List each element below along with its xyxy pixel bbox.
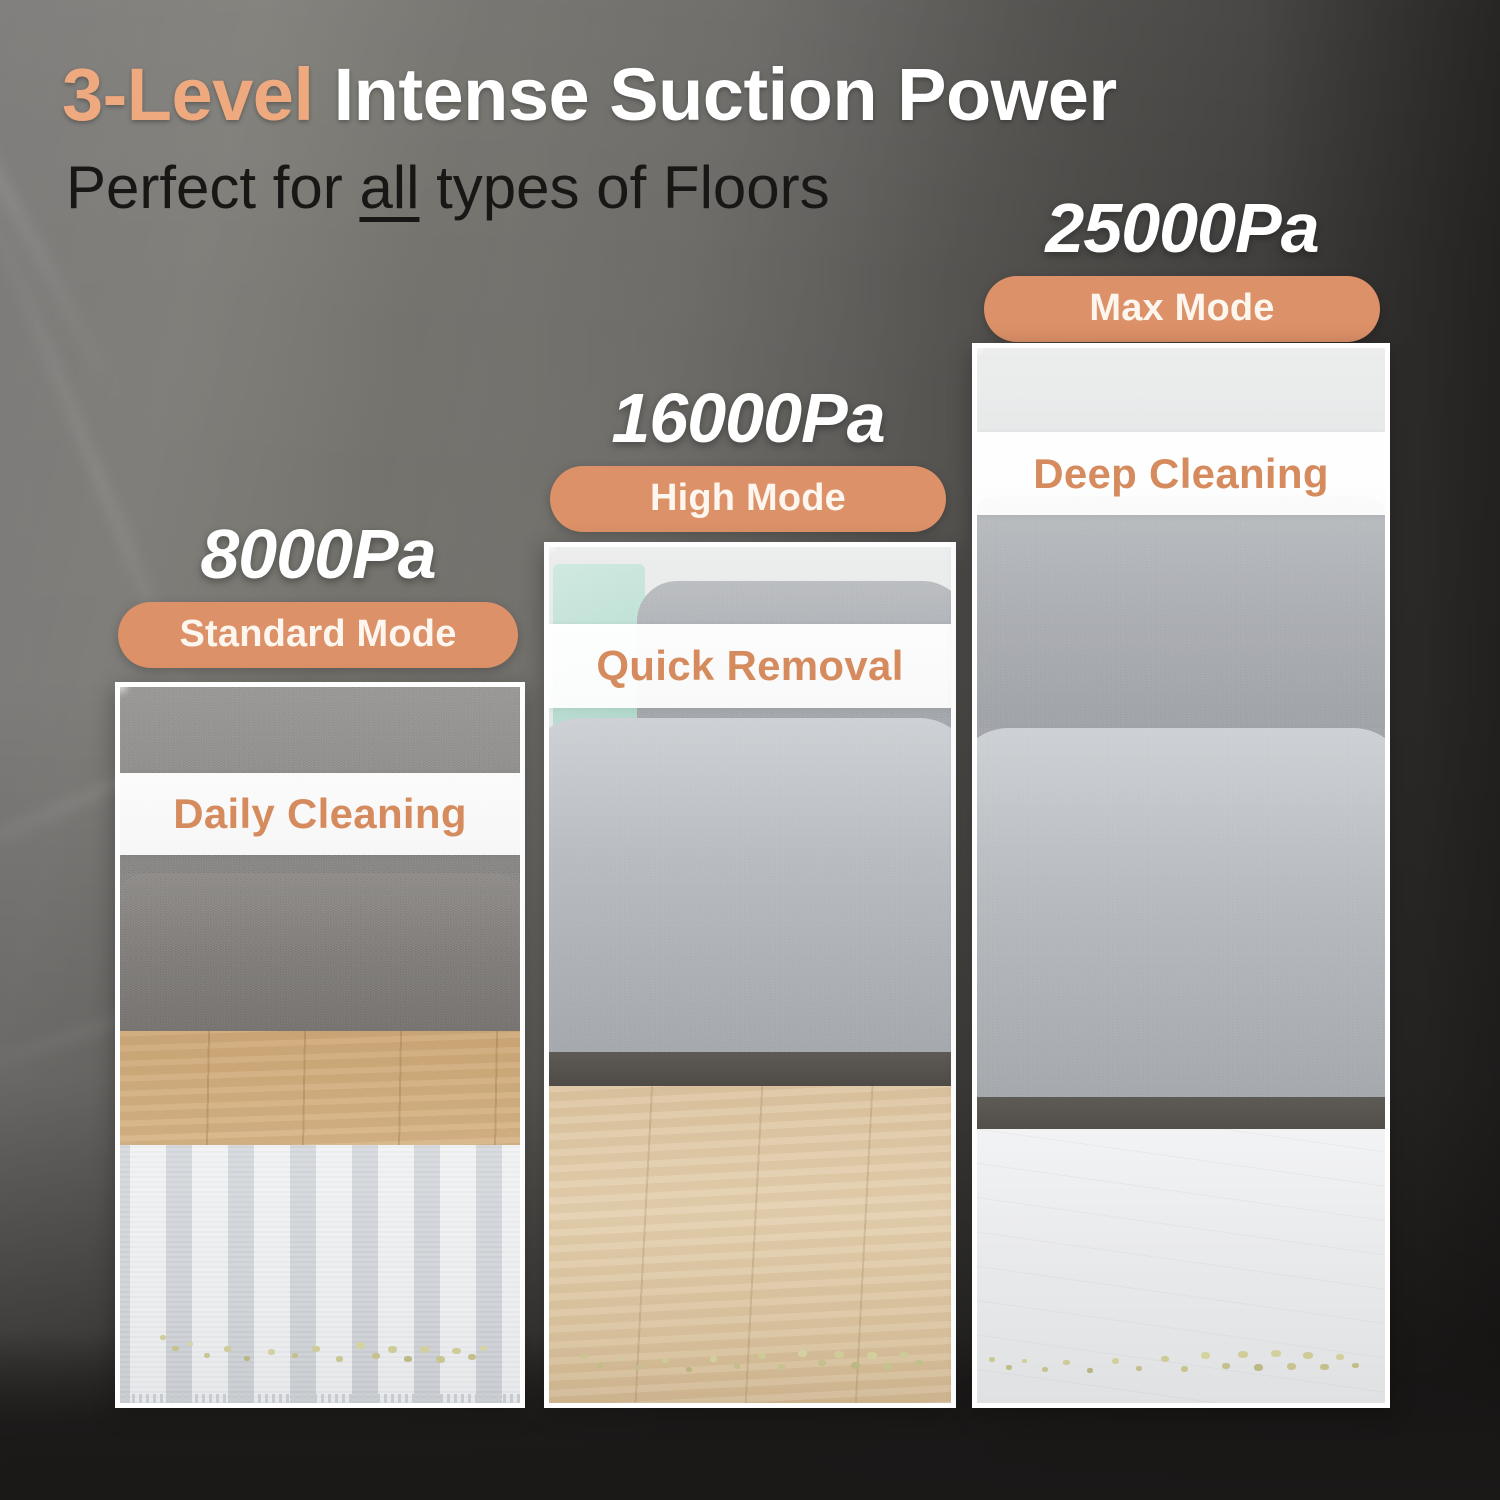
suction-value-max: 25000Pa [984,192,1380,266]
mode-label-group-standard: 8000Pa Standard Mode [118,518,518,668]
page-subtitle: Perfect for all types of Floors [66,158,830,218]
caption-band-high: Quick Removal [549,624,951,708]
mode-pill-max[interactable]: Max Mode [984,276,1380,342]
caption-band-standard: Daily Cleaning [120,773,520,855]
subtitle-underlined-word: all [359,154,419,221]
suction-value-standard: 8000Pa [118,518,518,592]
headline-rest-text: Intense Suction Power [334,53,1117,136]
headline-accent-text: 3-Level [62,53,314,136]
mode-pill-high[interactable]: High Mode [550,466,946,532]
mode-panel-high[interactable]: Quick Removal [544,542,956,1408]
subtitle-suffix: types of Floors [419,154,829,221]
suction-value-high: 16000Pa [550,382,946,456]
mode-panel-max[interactable]: Deep Cleaning [972,343,1390,1408]
mode-label-group-max: 25000Pa Max Mode [984,192,1380,342]
mode-label-group-high: 16000Pa High Mode [550,382,946,532]
mode-pill-standard[interactable]: Standard Mode [118,602,518,668]
caption-band-max: Deep Cleaning [977,432,1385,514]
mode-panel-standard[interactable]: Daily Cleaning [115,682,525,1408]
page-title: 3-Level Intense Suction Power [62,58,1117,132]
subtitle-prefix: Perfect for [66,154,359,221]
